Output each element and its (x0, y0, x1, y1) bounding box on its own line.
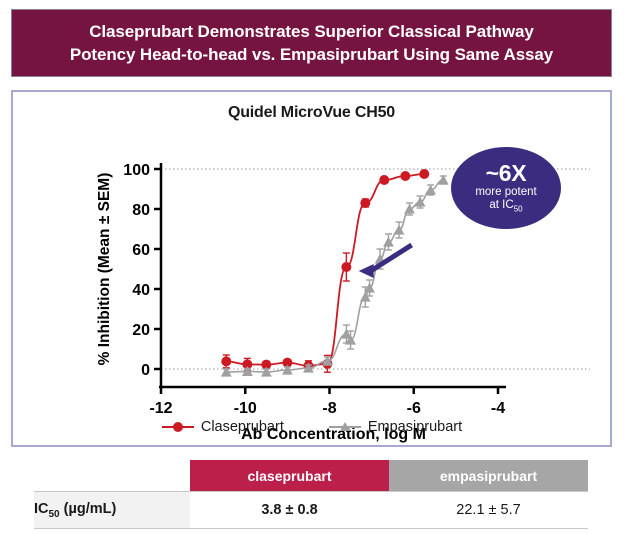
badge-subtext: more potent at IC50 (475, 186, 536, 215)
legend-label-empasiprubart: Empasiprubart (368, 419, 462, 435)
data-point (400, 171, 410, 181)
legend-circle-marker-icon (161, 420, 195, 434)
y-tick-label: 60 (132, 242, 150, 259)
table-header-empasiprubart: empasiprubart (389, 460, 588, 492)
data-point (221, 356, 231, 366)
legend-triangle-marker-icon (328, 420, 362, 434)
data-point (404, 204, 415, 214)
badge-subtext-line1: more potent (475, 186, 536, 198)
dose-response-plot: 020406080100-12-10-8-6-4Ab Concentration… (13, 92, 610, 445)
legend-item-claseprubart: Claseprubart (161, 419, 284, 435)
badge-subtext-line2-prefix: at IC (489, 199, 513, 211)
ic50-label-prefix: IC (34, 501, 49, 517)
y-axis-label: % Inhibition (Mean ± SEM) (96, 173, 113, 366)
banner-text: Claseprubart Demonstrates Superior Class… (58, 20, 565, 66)
x-tick-label: -12 (149, 400, 172, 417)
ic50-label-sub: 50 (49, 508, 60, 519)
badge-subtext-line2-sub: 50 (514, 204, 523, 213)
series-line-claseprubart (226, 174, 424, 366)
ic50-results-table: claseprubart empasiprubart IC50 (µg/mL) … (34, 460, 588, 529)
x-tick-label: -4 (491, 400, 505, 417)
table-header-claseprubart: claseprubart (190, 460, 389, 492)
x-tick-label: -8 (322, 400, 336, 417)
legend-item-empasiprubart: Empasiprubart (328, 419, 462, 435)
data-point (419, 169, 429, 179)
chart-panel: Quidel MicroVue CH50 020406080100-12-10-… (11, 90, 612, 447)
table-cell-claseprubart-ic50: 3.8 ± 0.8 (190, 492, 389, 529)
potency-callout-badge: ~6X more potent at IC50 (451, 147, 561, 229)
data-point (438, 175, 449, 185)
table-cell-empasiprubart-ic50: 22.1 ± 5.7 (389, 492, 588, 529)
y-tick-label: 20 (132, 322, 150, 339)
x-tick-label: -10 (234, 400, 257, 417)
data-point (341, 262, 351, 272)
table-corner-cell (34, 460, 190, 492)
table-header-row: claseprubart empasiprubart (34, 460, 588, 492)
table-row: IC50 (µg/mL) 3.8 ± 0.8 22.1 ± 5.7 (34, 492, 588, 529)
results-table-wrap: claseprubart empasiprubart IC50 (µg/mL) … (34, 460, 588, 529)
y-tick-label: 80 (132, 202, 150, 219)
ic50-label-suffix: (µg/mL) (60, 501, 117, 517)
x-tick-label: -6 (407, 400, 421, 417)
data-point (425, 185, 436, 195)
legend-label-claseprubart: Claseprubart (201, 419, 284, 435)
data-point (360, 198, 370, 208)
badge-headline: ~6X (486, 161, 527, 185)
banner-line-2: Potency Head-to-head vs. Empasiprubart U… (70, 45, 553, 64)
y-tick-label: 40 (132, 282, 150, 299)
y-tick-label: 100 (123, 162, 150, 179)
banner-line-1: Claseprubart Demonstrates Superior Class… (89, 22, 534, 41)
table-row-label-ic50: IC50 (µg/mL) (34, 492, 190, 529)
data-point (379, 175, 389, 185)
chart-legend: Claseprubart Empasiprubart (11, 419, 612, 435)
title-banner: Claseprubart Demonstrates Superior Class… (11, 9, 612, 77)
y-tick-label: 0 (141, 362, 150, 379)
